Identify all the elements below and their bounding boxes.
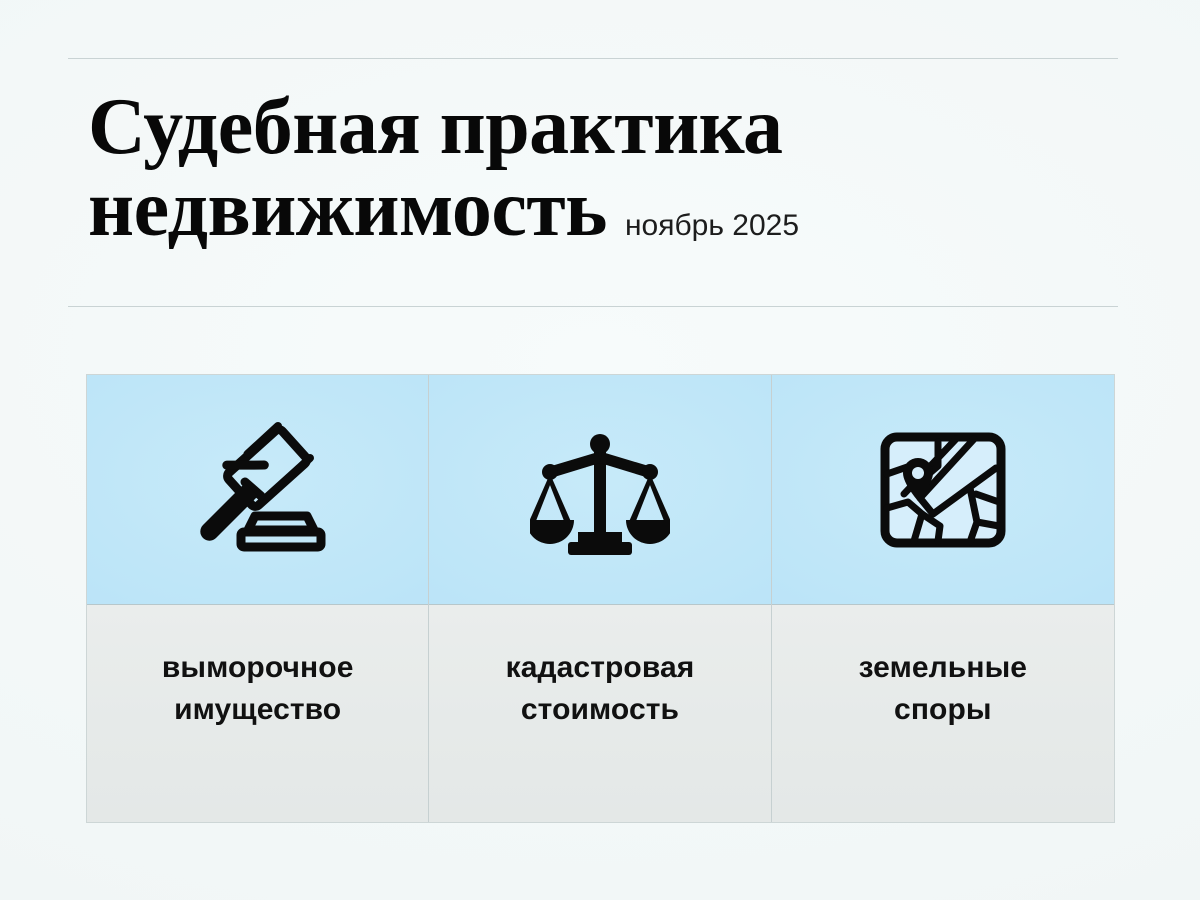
page-title-line-1: Судебная практика [88, 83, 783, 171]
divider-middle [68, 306, 1118, 307]
topic-card-icon-area [429, 375, 770, 605]
topic-card-label: выморочное имущество [87, 605, 428, 822]
divider-top [68, 58, 1118, 59]
topic-card-icon-area [87, 375, 428, 605]
topic-card-label: кадастровая стоимость [429, 605, 770, 822]
topic-card-escheat-property[interactable]: выморочное имущество [87, 375, 429, 822]
page-subtitle-date: ноябрь 2025 [625, 211, 799, 241]
topic-card-label: земельные споры [772, 605, 1114, 822]
page-header: Судебная практика недвижимость ноябрь 20… [88, 86, 1118, 250]
topic-card-icon-area [772, 375, 1114, 605]
topic-card-grid: выморочное имущество [86, 374, 1115, 823]
map-location-icon [878, 430, 1008, 550]
topic-card-label-line-2: споры [772, 689, 1114, 731]
topic-card-label-line-2: стоимость [429, 689, 770, 731]
page-title: Судебная практика [88, 86, 1118, 168]
topic-card-label-line-1: кадастровая [429, 647, 770, 689]
gavel-icon [183, 420, 333, 560]
topic-card-label-line-1: выморочное [87, 647, 428, 689]
page-title-line-2: недвижимость [88, 168, 607, 250]
topic-card-label-line-2: имущество [87, 689, 428, 731]
topic-card-label-line-1: земельные [772, 647, 1114, 689]
page-title-second-line: недвижимость ноябрь 2025 [88, 168, 1118, 250]
topic-card-land-disputes[interactable]: земельные споры [772, 375, 1114, 822]
balance-scales-icon [530, 420, 670, 560]
topic-card-cadastral-value[interactable]: кадастровая стоимость [429, 375, 771, 822]
